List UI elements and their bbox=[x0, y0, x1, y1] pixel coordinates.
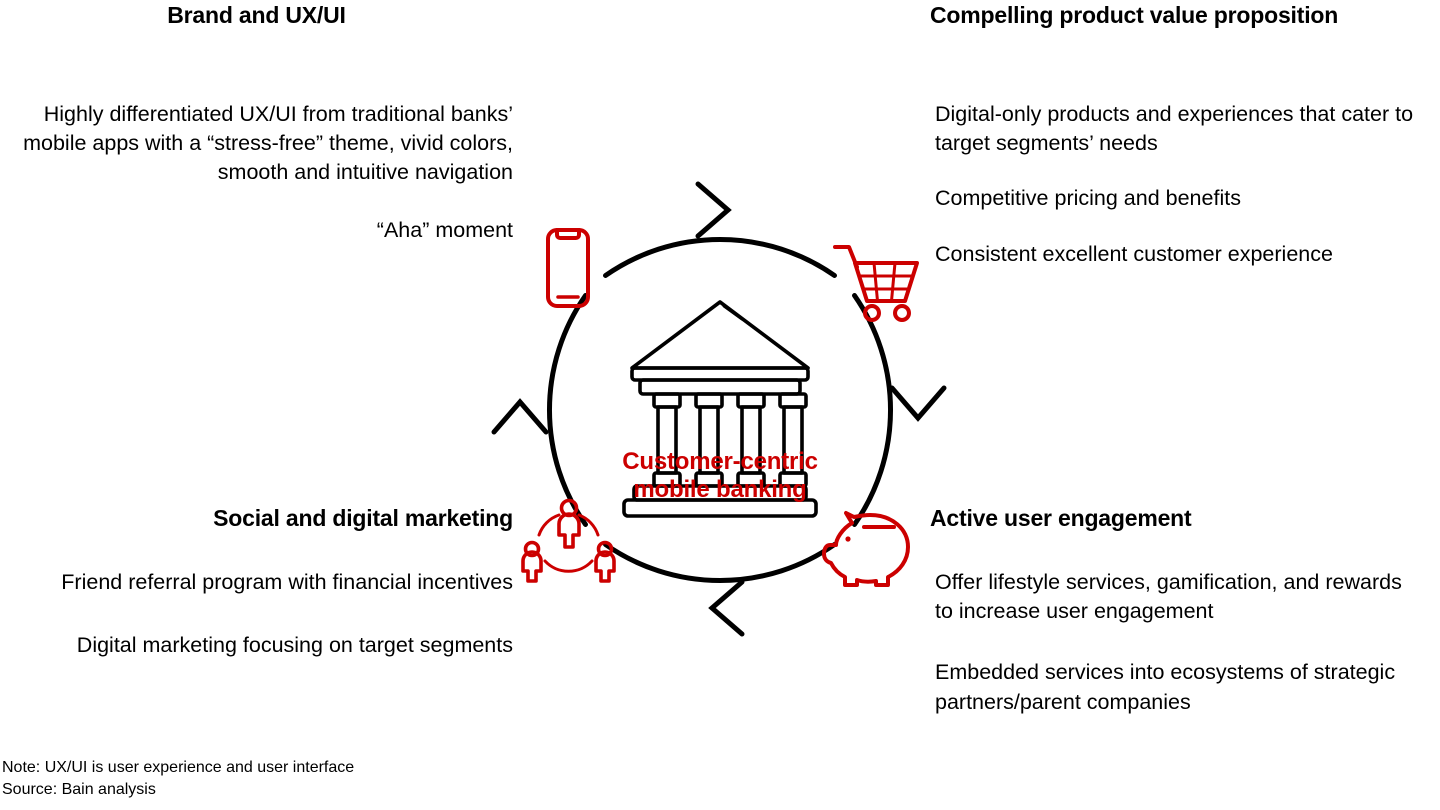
cycle-arcs bbox=[549, 239, 890, 580]
center-caption-line-2: mobile banking bbox=[575, 476, 865, 504]
bullet-item: Digital-only products and experiences th… bbox=[935, 100, 1435, 158]
quadrant-body-brand: Highly differentiated UX/UI from traditi… bbox=[0, 100, 513, 273]
cycle-diagram bbox=[480, 170, 960, 650]
bullet-item: “Aha” moment bbox=[0, 216, 513, 245]
center-caption: Customer-centric mobile banking bbox=[575, 448, 865, 505]
arc-top bbox=[606, 239, 835, 275]
arrowhead-right bbox=[892, 388, 944, 418]
bullet-item: Highly differentiated UX/UI from traditi… bbox=[0, 100, 513, 188]
bullet-item: Friend referral program with financial i… bbox=[0, 568, 513, 597]
quadrant-body-social: Friend referral program with financial i… bbox=[0, 568, 513, 694]
arrowhead-bottom bbox=[712, 582, 742, 634]
heading-text-brand: Brand and UX/UI bbox=[0, 2, 513, 28]
bullet-item: Competitive pricing and benefits bbox=[935, 184, 1435, 213]
arc-bottom bbox=[606, 545, 835, 581]
arrowhead-top bbox=[698, 184, 728, 236]
footnotes: Note: UX/UI is user experience and user … bbox=[2, 757, 354, 801]
social-network-people-icon bbox=[523, 501, 614, 582]
mobile-phone-icon bbox=[548, 230, 588, 306]
quadrant-heading-brand: Brand and UX/UI bbox=[0, 2, 513, 28]
quadrant-heading-engagement: Active user engagement bbox=[930, 505, 1440, 531]
piggy-bank-icon bbox=[824, 513, 908, 585]
center-caption-line-1: Customer-centric bbox=[575, 448, 865, 476]
footnote-source: Source: Bain analysis bbox=[2, 779, 354, 801]
shopping-cart-icon bbox=[835, 247, 917, 320]
quadrant-heading-value: Compelling product value proposition bbox=[930, 2, 1440, 28]
bullet-item: Consistent excellent customer experience bbox=[935, 240, 1435, 269]
bullet-item: Embedded services into ecosystems of str… bbox=[935, 658, 1405, 716]
slide-canvas: Brand and UX/UI Compelling product value… bbox=[0, 0, 1440, 810]
footnote-note: Note: UX/UI is user experience and user … bbox=[2, 757, 354, 779]
quadrant-body-value: Digital-only products and experiences th… bbox=[935, 100, 1435, 295]
bullet-item: Offer lifestyle services, gamification, … bbox=[935, 568, 1405, 626]
heading-text-engagement: Active user engagement bbox=[930, 505, 1440, 531]
quadrant-body-engagement: Offer lifestyle services, gamification, … bbox=[935, 568, 1405, 749]
heading-text-value: Compelling product value proposition bbox=[930, 2, 1440, 28]
arrowhead-left bbox=[494, 402, 546, 432]
heading-text-social: Social and digital marketing bbox=[0, 505, 513, 531]
bullet-item: Digital marketing focusing on target seg… bbox=[0, 631, 513, 660]
quadrant-heading-social: Social and digital marketing bbox=[0, 505, 513, 531]
